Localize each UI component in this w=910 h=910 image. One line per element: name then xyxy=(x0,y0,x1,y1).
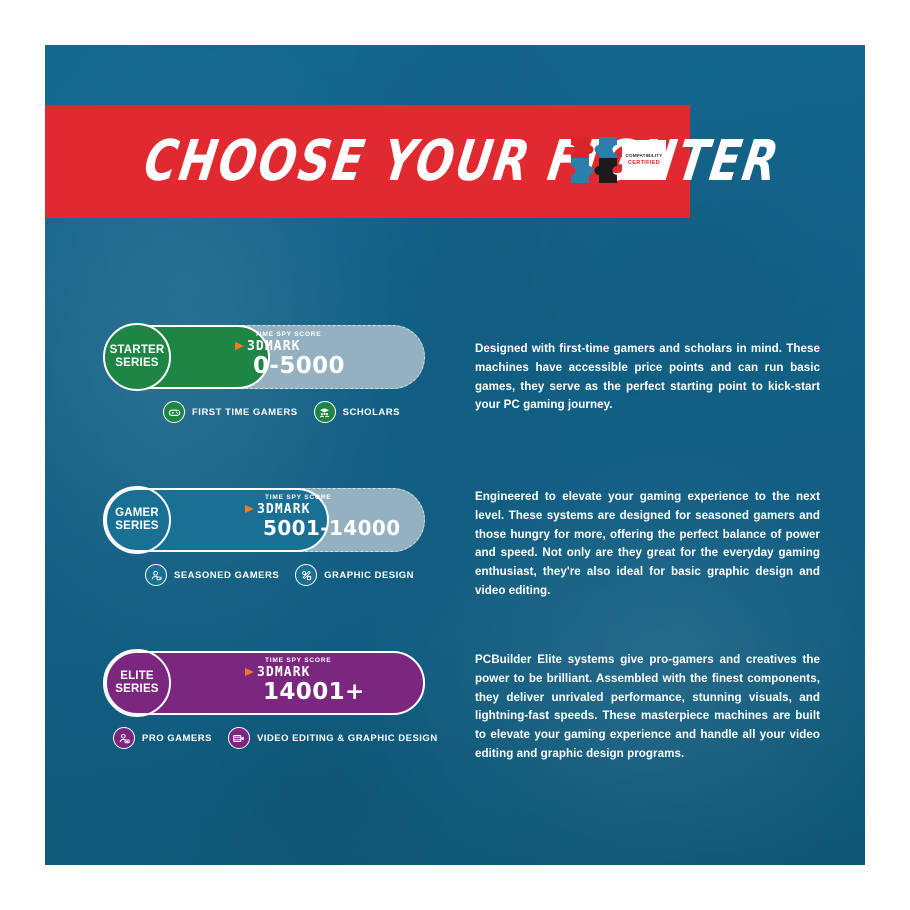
tag-chip: PRO GAMERS xyxy=(113,727,212,749)
graphic-design-icon xyxy=(295,564,317,586)
scholars-icon xyxy=(314,401,336,423)
tier-name-line2: SERIES xyxy=(115,683,158,696)
3dmark-arrow-icon xyxy=(245,505,254,513)
tier-description-gamer: Engineered to elevate your gaming experi… xyxy=(475,488,820,601)
tag-list-elite: PRO GAMERS VIDEO EDITING & GRAPHIC DESIG… xyxy=(113,727,454,749)
3dmark-logo: 3DMARK xyxy=(245,502,311,517)
3dmark-wordmark: 3DMARK xyxy=(247,339,301,354)
tag-list-starter: FIRST TIME GAMERS SCHOLARS xyxy=(163,401,416,423)
tag-label: VIDEO EDITING & GRAPHIC DESIGN xyxy=(257,733,438,744)
3dmark-logo: 3DMARK xyxy=(245,665,311,680)
tag-chip: VIDEO EDITING & GRAPHIC DESIGN xyxy=(228,727,438,749)
tag-label: GRAPHIC DESIGN xyxy=(324,570,414,581)
tier-description-starter: Designed with first-time gamers and scho… xyxy=(475,340,820,415)
3dmark-arrow-icon xyxy=(235,342,244,350)
3dmark-logo: 3DMARK xyxy=(235,339,301,354)
gamepad-icon xyxy=(163,401,185,423)
score-bar-elite: ELITE SERIES TIME SPY SCORE 3DMARK 14001… xyxy=(105,651,425,715)
score-value: 14001+ xyxy=(263,679,365,705)
tier-name-line2: SERIES xyxy=(115,357,158,370)
score-bar-gamer: GAMER SERIES TIME SPY SCORE 3DMARK 5001-… xyxy=(105,488,425,552)
score-value: 5001-14000 xyxy=(263,516,401,540)
tag-label: SCHOLARS xyxy=(343,407,400,418)
header-band: CHOOSE YOUR FIGHTER COMPATIBILITY CERTIF… xyxy=(45,105,690,218)
page-title: CHOOSE YOUR FIGHTER xyxy=(141,133,784,189)
tag-chip: FIRST TIME GAMERS xyxy=(163,401,298,423)
badge-line1: COMPATIBILITY xyxy=(626,153,663,159)
score-label: TIME SPY SCORE xyxy=(265,494,331,501)
tag-label: FIRST TIME GAMERS xyxy=(192,407,298,418)
tag-chip: SEASONED GAMERS xyxy=(145,564,279,586)
texture-overlay-b xyxy=(303,412,865,865)
tier-badge-gamer: GAMER SERIES xyxy=(103,486,171,554)
3dmark-wordmark: 3DMARK xyxy=(257,665,311,680)
tag-chip: SCHOLARS xyxy=(314,401,400,423)
3dmark-wordmark: 3DMARK xyxy=(257,502,311,517)
tier-badge-elite: ELITE SERIES xyxy=(103,649,171,717)
seasoned-gamer-icon xyxy=(145,564,167,586)
tag-label: SEASONED GAMERS xyxy=(174,570,279,581)
puzzle-icon xyxy=(568,134,620,186)
tier-name-line2: SERIES xyxy=(115,520,158,533)
pro-gamer-icon xyxy=(113,727,135,749)
score-label: TIME SPY SCORE xyxy=(265,657,331,664)
tag-label: PRO GAMERS xyxy=(142,733,212,744)
score-block-elite: TIME SPY SCORE 3DMARK 14001+ xyxy=(245,657,365,705)
score-block-starter: TIME SPY SCORE 3DMARK 0-5000 xyxy=(235,331,345,379)
tag-list-gamer: SEASONED GAMERS GRAPHIC DESIGN xyxy=(145,564,430,586)
video-editing-icon xyxy=(228,727,250,749)
tier-name-line1: STARTER xyxy=(110,344,165,357)
tier-description-elite: PCBuilder Elite systems give pro-gamers … xyxy=(475,651,820,764)
badge-text-block: COMPATIBILITY CERTIFIED xyxy=(622,140,666,180)
score-bar-starter: STARTER SERIES TIME SPY SCORE 3DMARK 0-5… xyxy=(105,325,425,389)
score-block-gamer: TIME SPY SCORE 3DMARK 5001-14000 xyxy=(245,494,401,540)
compatibility-certified-badge: COMPATIBILITY CERTIFIED xyxy=(568,134,666,186)
score-value: 0-5000 xyxy=(253,353,345,379)
badge-line2: CERTIFIED xyxy=(628,160,660,167)
score-label: TIME SPY SCORE xyxy=(255,331,321,338)
tag-chip: GRAPHIC DESIGN xyxy=(295,564,414,586)
3dmark-arrow-icon xyxy=(245,668,254,676)
poster-panel: CHOOSE YOUR FIGHTER COMPATIBILITY CERTIF… xyxy=(45,45,865,865)
tier-badge-starter: STARTER SERIES xyxy=(103,323,171,391)
tier-name-line1: ELITE xyxy=(120,670,154,683)
tier-name-line1: GAMER xyxy=(115,507,159,520)
poster-root: CHOOSE YOUR FIGHTER COMPATIBILITY CERTIF… xyxy=(0,0,910,910)
